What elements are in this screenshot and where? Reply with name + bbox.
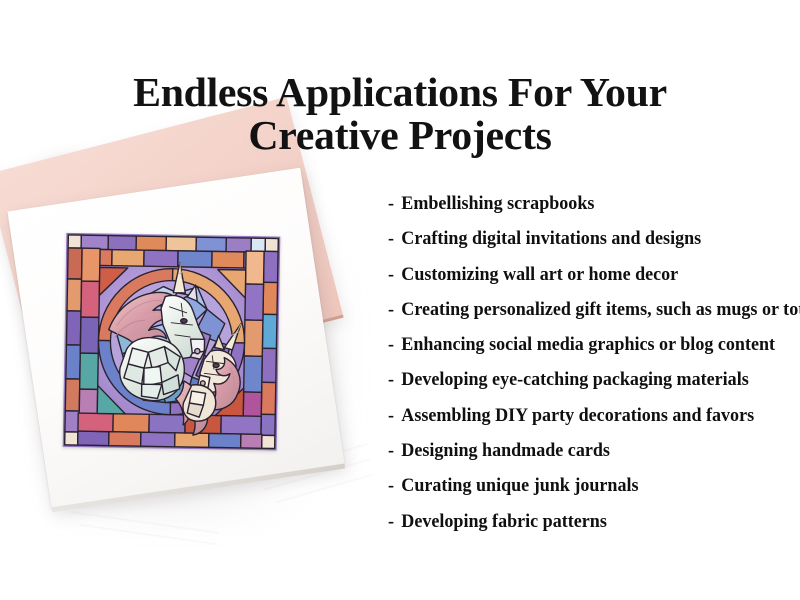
list-item: -Curating unique junk journals [388,474,772,509]
list-item-label: Curating unique junk journals [401,475,638,496]
list-item-label: Assembling DIY party decorations and fav… [401,405,754,426]
bullet-dash-icon: - [388,368,394,392]
list-item-label: Customizing wall art or home decor [401,264,678,285]
bullet-dash-icon: - [388,474,394,498]
applications-list: -Embellishing scrapbooks-Crafting digita… [388,192,792,545]
list-item: -Customizing wall art or home decor [388,263,772,298]
greeting-card [7,168,344,508]
list-item: -Embellishing scrapbooks [388,192,772,227]
product-photo [0,130,400,570]
bullet-dash-icon: - [388,404,394,428]
list-item-label: Developing eye-catching packaging materi… [401,369,748,390]
bullet-dash-icon: - [388,510,394,534]
page-title-line-1: Endless Applications For Your [0,71,800,114]
page-title: Endless Applications For Your Creative P… [0,71,800,157]
list-item: -Creating personalized gift items, such … [388,298,772,333]
list-item: -Developing eye-catching packaging mater… [388,368,772,403]
list-item-label: Creating personalized gift items, such a… [401,299,800,320]
bullet-dash-icon: - [388,227,394,251]
list-item: -Developing fabric patterns [388,510,772,545]
list-item: -Crafting digital invitations and design… [388,227,772,262]
poster-canvas: Endless Applications For Your Creative P… [0,0,800,600]
bullet-dash-icon: - [388,298,394,322]
list-item-label: Embellishing scrapbooks [401,193,594,214]
bullet-dash-icon: - [388,263,394,287]
list-item-label: Crafting digital invitations and designs [401,228,701,249]
page-title-line-2: Creative Projects [0,114,800,157]
bullet-dash-icon: - [388,439,394,463]
list-item: -Assembling DIY party decorations and fa… [388,404,772,439]
bullet-dash-icon: - [388,192,394,216]
list-item: -Enhancing social media graphics or blog… [388,333,772,368]
list-item-label: Developing fabric patterns [401,511,607,532]
list-item-label: Designing handmade cards [401,440,610,461]
list-item-label: Enhancing social media graphics or blog … [401,334,775,355]
list-item: -Designing handmade cards [388,439,772,474]
stained-glass-unicorn-artwork [63,233,281,451]
bullet-dash-icon: - [388,333,394,357]
